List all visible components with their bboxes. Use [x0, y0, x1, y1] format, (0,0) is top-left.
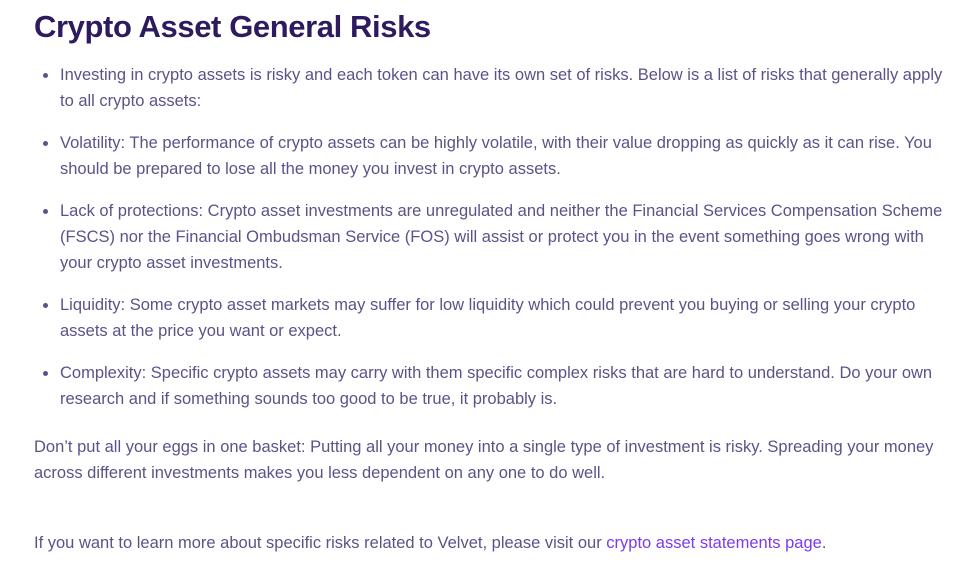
list-item: Lack of protections: Crypto asset invest…: [0, 198, 969, 276]
risk-list: Investing in crypto assets is risky and …: [0, 62, 969, 412]
list-item-text: Liquidity: Some crypto asset markets may…: [60, 296, 915, 340]
crypto-asset-statements-link[interactable]: crypto asset statements page: [606, 534, 822, 552]
bullet-icon: [43, 209, 48, 214]
list-item-text: Lack of protections: Crypto asset invest…: [60, 202, 942, 272]
bullet-icon: [43, 371, 48, 376]
bullet-icon: [43, 141, 48, 146]
learn-more-paragraph: If you want to learn more about specific…: [0, 530, 969, 556]
content-body: Investing in crypto assets is risky and …: [0, 62, 969, 556]
diversification-paragraph: Don’t put all your eggs in one basket: P…: [0, 434, 969, 486]
list-item: Investing in crypto assets is risky and …: [0, 62, 969, 114]
list-item: Volatility: The performance of crypto as…: [0, 130, 969, 182]
list-item: Liquidity: Some crypto asset markets may…: [0, 292, 969, 344]
list-item-text: Complexity: Specific crypto assets may c…: [60, 364, 932, 408]
list-item-text: Volatility: The performance of crypto as…: [60, 134, 932, 178]
list-item: Complexity: Specific crypto assets may c…: [0, 360, 969, 412]
learn-more-trailing-text: .: [822, 534, 827, 552]
page-title: Crypto Asset General Risks: [34, 6, 431, 48]
bullet-icon: [43, 73, 48, 78]
learn-more-lead-text: If you want to learn more about specific…: [34, 534, 606, 552]
crypto-risks-page: Crypto Asset General Risks Investing in …: [0, 0, 969, 577]
list-item-text: Investing in crypto assets is risky and …: [60, 66, 942, 110]
bullet-icon: [43, 303, 48, 308]
